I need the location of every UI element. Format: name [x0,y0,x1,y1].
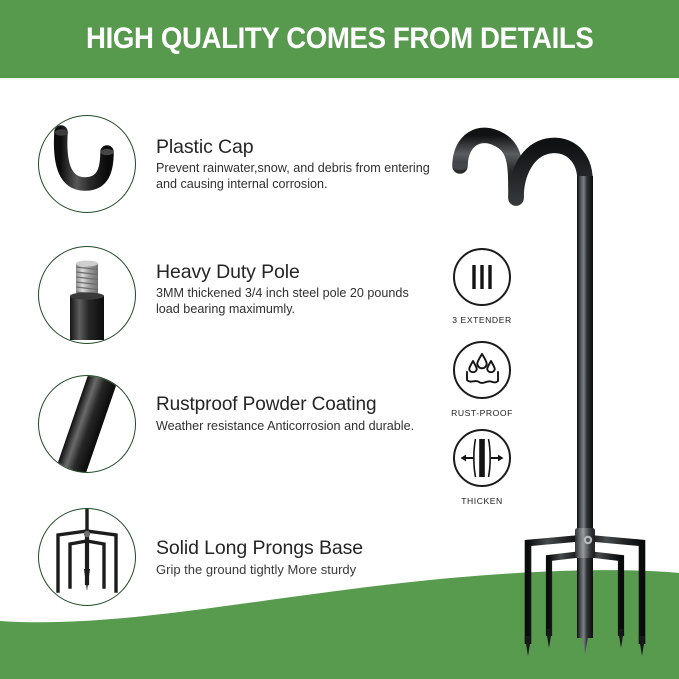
feature-description: Grip the ground tightly More sturdy [156,562,434,578]
feature-text-block: Rustproof Powder Coating Weather resista… [156,394,434,434]
badge-rust-proof: RUST-PROOF [434,341,530,418]
three-bars-icon [453,248,511,306]
badge-label: RUST-PROOF [434,408,530,418]
feature-description: Prevent rainwater,snow, and debris from … [156,161,434,192]
feature-text-block: Solid Long Prongs Base Grip the ground t… [156,537,434,578]
badge-3-extender: 3 EXTENDER [434,248,530,325]
feature-title: Solid Long Prongs Base [156,537,434,559]
feature-row-solid-long-prongs-base: Solid Long Prongs Base Grip the ground t… [30,505,430,615]
water-droplets-icon [453,341,511,399]
feature-row-heavy-duty-pole: Heavy Duty Pole 3MM thickened 3/4 inch s… [30,243,430,353]
badge-label: THICKEN [434,496,530,506]
feature-title: Heavy Duty Pole [156,261,434,283]
product-infographic: HIGH QUALITY COMES FROM DETAILS [0,0,679,679]
thickness-arrows-icon [453,429,511,487]
five-prong-base-icon [38,508,136,606]
page-title: HIGH QUALITY COMES FROM DETAILS [86,22,593,56]
threaded-pole-end-icon [38,246,136,344]
feature-row-plastic-cap: Plastic Cap Prevent rainwater,snow, and … [30,112,430,222]
feature-title: Plastic Cap [156,136,434,158]
feature-description: Weather resistance Anticorrosion and dur… [156,419,434,434]
feature-description: 3MM thickened 3/4 inch steel pole 20 pou… [156,286,434,317]
plastic-cap-hook-icon [38,115,136,213]
feature-row-rustproof-powder-coating: Rustproof Powder Coating Weather resista… [30,372,430,482]
badge-label: 3 EXTENDER [434,315,530,325]
badge-thicken: THICKEN [434,429,530,506]
feature-title: Rustproof Powder Coating [156,394,434,416]
header-banner: HIGH QUALITY COMES FROM DETAILS [0,0,679,78]
powder-coated-tube-icon [38,375,136,473]
feature-text-block: Heavy Duty Pole 3MM thickened 3/4 inch s… [156,261,434,317]
feature-text-block: Plastic Cap Prevent rainwater,snow, and … [156,136,434,192]
